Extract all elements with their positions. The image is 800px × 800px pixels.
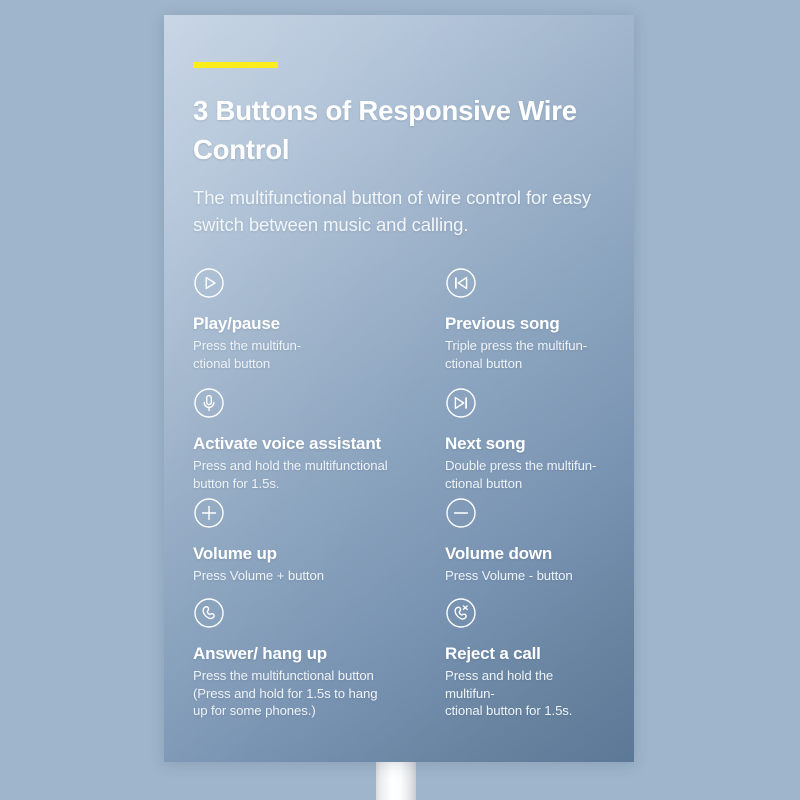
feature-description: Double press the multifun- ctional butto… — [445, 457, 604, 492]
feature-title: Answer/ hang up — [193, 643, 445, 664]
microphone-circle-icon — [193, 387, 225, 419]
feature-title: Reject a call — [445, 643, 604, 664]
earphone-jack-stem — [376, 760, 416, 800]
feature-item-volume-up: Volume up Press Volume + button — [193, 497, 445, 597]
feature-description: Press and hold the multifunctional butto… — [193, 457, 445, 492]
feature-description: Press Volume + button — [193, 567, 445, 585]
scene-background: 3 Buttons of Responsive Wire Control The… — [0, 0, 800, 800]
feature-description: Triple press the multifun- ctional butto… — [445, 337, 604, 372]
feature-description: Press the multifun- ctional button — [193, 337, 445, 372]
play-circle-icon — [193, 267, 225, 299]
phone-circle-icon — [193, 597, 225, 629]
feature-item-next-song: Next song Double press the multifun- cti… — [445, 387, 604, 497]
feature-title: Volume up — [193, 543, 445, 564]
feature-title: Volume down — [445, 543, 604, 564]
accent-bar — [193, 62, 278, 68]
feature-item-volume-down: Volume down Press Volume - button — [445, 497, 604, 597]
feature-item-play-pause: Play/pause Press the multifun- ctional b… — [193, 267, 445, 387]
feature-item-previous-song: Previous song Triple press the multifun-… — [445, 267, 604, 387]
product-feature-card: 3 Buttons of Responsive Wire Control The… — [164, 15, 634, 762]
feature-item-answer-hang-up: Answer/ hang up Press the multifunctiona… — [193, 597, 445, 717]
feature-description: Press Volume - button — [445, 567, 604, 585]
feature-description: Press the multifunctional button (Press … — [193, 667, 445, 720]
feature-item-reject-call: Reject a call Press and hold the multifu… — [445, 597, 604, 717]
feature-title: Previous song — [445, 313, 604, 334]
phone-reject-circle-icon — [445, 597, 477, 629]
skip-back-circle-icon — [445, 267, 477, 299]
page-subtitle: The multifunctional button of wire contr… — [193, 185, 604, 239]
feature-description: Press and hold the multifun- ctional but… — [445, 667, 604, 720]
feature-grid: Play/pause Press the multifun- ctional b… — [193, 267, 604, 717]
page-title: 3 Buttons of Responsive Wire Control — [193, 91, 604, 169]
plus-circle-icon — [193, 497, 225, 529]
feature-title: Play/pause — [193, 313, 445, 334]
feature-title: Activate voice assistant — [193, 433, 445, 454]
feature-item-voice-assistant: Activate voice assistant Press and hold … — [193, 387, 445, 497]
minus-circle-icon — [445, 497, 477, 529]
skip-forward-circle-icon — [445, 387, 477, 419]
feature-title: Next song — [445, 433, 604, 454]
